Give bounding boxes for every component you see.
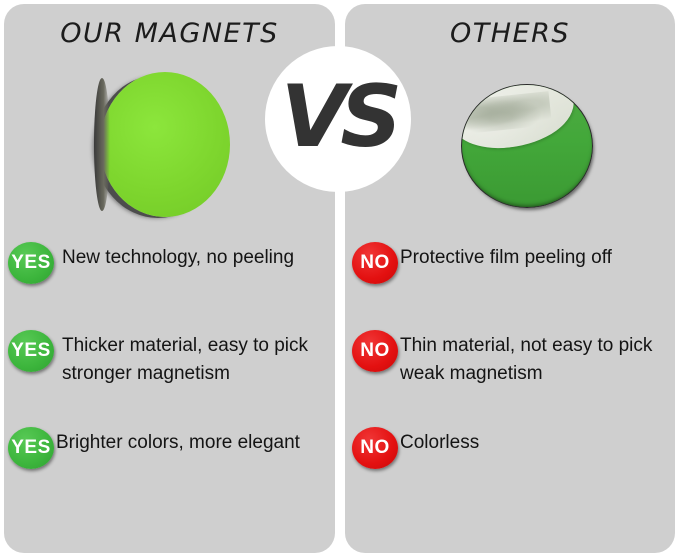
list-item-right-3: NO Colorless	[352, 425, 672, 469]
list-item-label: Brighter colors, more elegant	[56, 429, 300, 457]
status-badge-yes: YES	[8, 242, 54, 284]
list-item-left-3: YES Brighter colors, more elegant	[8, 425, 330, 469]
status-badge-yes: YES	[8, 427, 54, 469]
comparison-infographic: OUR MAGNETS OTHERS VS YES New technology…	[0, 0, 679, 558]
status-badge-no: NO	[352, 427, 398, 469]
page-title-others: OTHERS	[345, 18, 675, 49]
peeling-film-magnet-disc-image	[461, 84, 593, 208]
list-item-label: Protective film peeling off	[400, 244, 612, 272]
list-item-label: Thicker material, easy to pick stronger …	[62, 332, 308, 388]
vs-label: VS	[281, 74, 396, 160]
vs-badge: VS	[265, 46, 411, 192]
list-item-label: Thin material, not easy to pick weak mag…	[400, 332, 652, 388]
list-item-label: Colorless	[400, 429, 479, 457]
list-item-label: New technology, no peeling	[62, 244, 294, 272]
status-badge-no: NO	[352, 330, 398, 372]
list-item-right-1: NO Protective film peeling off	[352, 240, 672, 284]
list-item-left-2: YES Thicker material, easy to pick stron…	[8, 328, 330, 388]
status-badge-no: NO	[352, 242, 398, 284]
list-item-left-1: YES New technology, no peeling	[8, 240, 330, 284]
page-title-our-magnets: OUR MAGNETS	[4, 18, 335, 49]
bright-green-magnet-disc-image	[100, 72, 230, 217]
status-badge-yes: YES	[8, 330, 54, 372]
list-item-right-2: NO Thin material, not easy to pick weak …	[352, 328, 672, 388]
peeling-film-overlay	[461, 84, 578, 153]
